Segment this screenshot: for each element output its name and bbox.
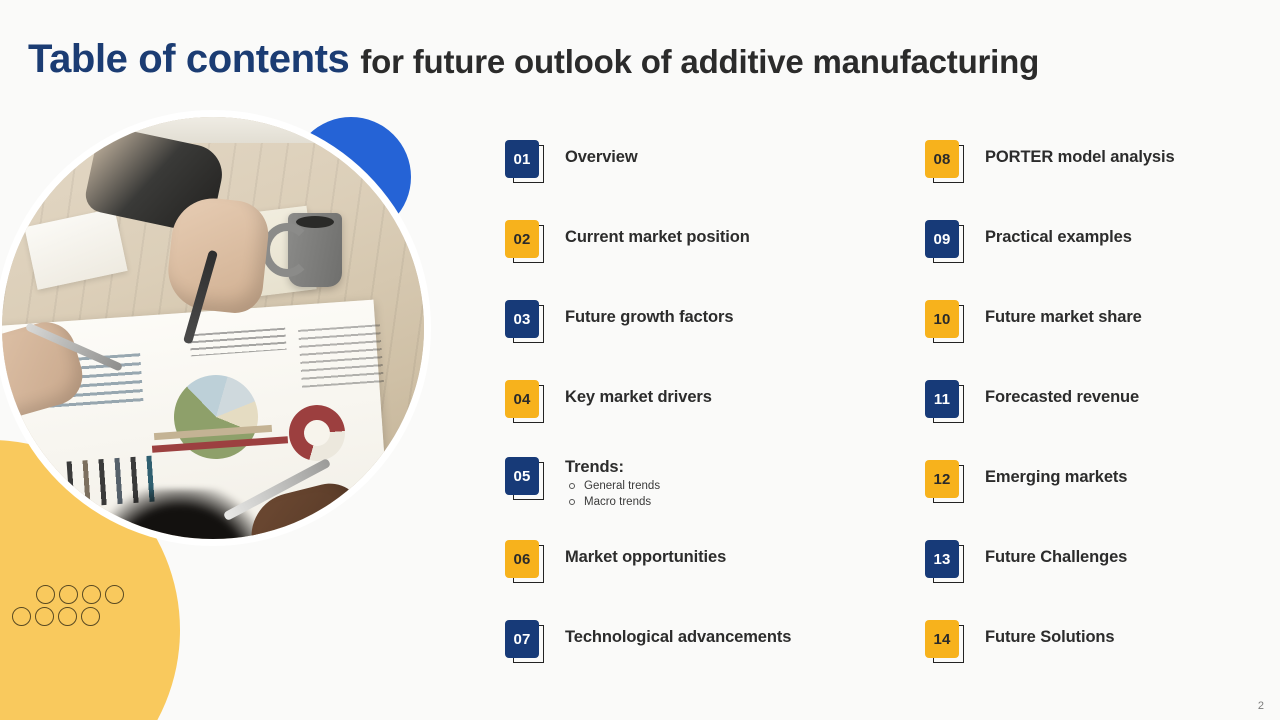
toc-item-11[interactable]: 11 Forecasted revenue: [920, 380, 1139, 428]
toc-item-10[interactable]: 10 Future market share: [920, 300, 1142, 348]
desk-analysis-photo: [2, 117, 424, 539]
toc-label-02: Current market position: [565, 228, 750, 247]
toc-badge-04: 04: [500, 380, 552, 426]
toc-badge-01: 01: [500, 140, 552, 186]
toc-item-06[interactable]: 06 Market opportunities: [500, 540, 726, 588]
toc-number-10: 10: [925, 300, 959, 338]
toc-number-08: 08: [925, 140, 959, 178]
toc-label-11: Forecasted revenue: [985, 388, 1139, 407]
toc-number-12: 12: [925, 460, 959, 498]
toc-item-01[interactable]: 01 Overview: [500, 140, 638, 188]
toc-badge-13: 13: [920, 540, 972, 586]
bullet-circle-icon: [569, 483, 575, 489]
bullet-circle-icon: [569, 499, 575, 505]
decorative-artwork: [0, 95, 440, 720]
toc-badge-14: 14: [920, 620, 972, 666]
toc-item-12[interactable]: 12 Emerging markets: [920, 460, 1127, 508]
dot-pattern-decoration: [12, 585, 122, 629]
toc-sub-label: General trends: [584, 478, 660, 494]
toc-number-09: 09: [925, 220, 959, 258]
toc-label-08: PORTER model analysis: [985, 148, 1175, 167]
toc-label-14: Future Solutions: [985, 628, 1114, 647]
toc-number-07: 07: [505, 620, 539, 658]
toc-number-02: 02: [505, 220, 539, 258]
toc-number-13: 13: [925, 540, 959, 578]
toc-sub-label: Macro trends: [584, 494, 651, 510]
toc-badge-10: 10: [920, 300, 972, 346]
toc-item-05[interactable]: 05 Trends: General trends Macro trends: [500, 457, 660, 505]
toc-badge-07: 07: [500, 620, 552, 666]
toc-badge-06: 06: [500, 540, 552, 586]
page-title-rest: for future outlook of additive manufactu…: [360, 43, 1039, 81]
toc-item-04[interactable]: 04 Key market drivers: [500, 380, 712, 428]
toc-label-03: Future growth factors: [565, 308, 733, 327]
toc-item-07[interactable]: 07 Technological advancements: [500, 620, 791, 668]
page-number: 2: [1258, 700, 1264, 712]
toc-badge-05: 05: [500, 457, 552, 503]
page-title: Table of contents for future outlook of …: [28, 30, 1258, 88]
toc-number-11: 11: [925, 380, 959, 418]
toc-sub-item[interactable]: Macro trends: [565, 494, 660, 510]
toc-badge-03: 03: [500, 300, 552, 346]
toc-badge-11: 11: [920, 380, 972, 426]
toc-label-07: Technological advancements: [565, 628, 791, 647]
toc-label-06: Market opportunities: [565, 548, 726, 567]
slide-canvas: Table of contents for future outlook of …: [0, 0, 1280, 720]
toc-badge-02: 02: [500, 220, 552, 266]
toc-number-04: 04: [505, 380, 539, 418]
toc-sub-item[interactable]: General trends: [565, 478, 660, 494]
toc-number-01: 01: [505, 140, 539, 178]
page-title-highlight: Table of contents: [28, 37, 349, 82]
toc-sublist-05: General trends Macro trends: [565, 478, 660, 510]
toc-badge-09: 09: [920, 220, 972, 266]
toc-item-02[interactable]: 02 Current market position: [500, 220, 750, 268]
toc-label-10: Future market share: [985, 308, 1142, 327]
toc-item-08[interactable]: 08 PORTER model analysis: [920, 140, 1175, 188]
toc-label-13: Future Challenges: [985, 548, 1127, 567]
toc-item-14[interactable]: 14 Future Solutions: [920, 620, 1114, 668]
toc-label-12: Emerging markets: [985, 468, 1127, 487]
toc-label-05: Trends:: [565, 458, 660, 477]
toc-badge-12: 12: [920, 460, 972, 506]
toc-number-14: 14: [925, 620, 959, 658]
toc-item-13[interactable]: 13 Future Challenges: [920, 540, 1127, 588]
toc-number-06: 06: [505, 540, 539, 578]
toc-badge-08: 08: [920, 140, 972, 186]
toc-item-03[interactable]: 03 Future growth factors: [500, 300, 733, 348]
toc-number-05: 05: [505, 457, 539, 495]
toc-item-09[interactable]: 09 Practical examples: [920, 220, 1132, 268]
toc-number-03: 03: [505, 300, 539, 338]
toc-label-09: Practical examples: [985, 228, 1132, 247]
toc-label-04: Key market drivers: [565, 388, 712, 407]
toc-label-01: Overview: [565, 148, 638, 167]
